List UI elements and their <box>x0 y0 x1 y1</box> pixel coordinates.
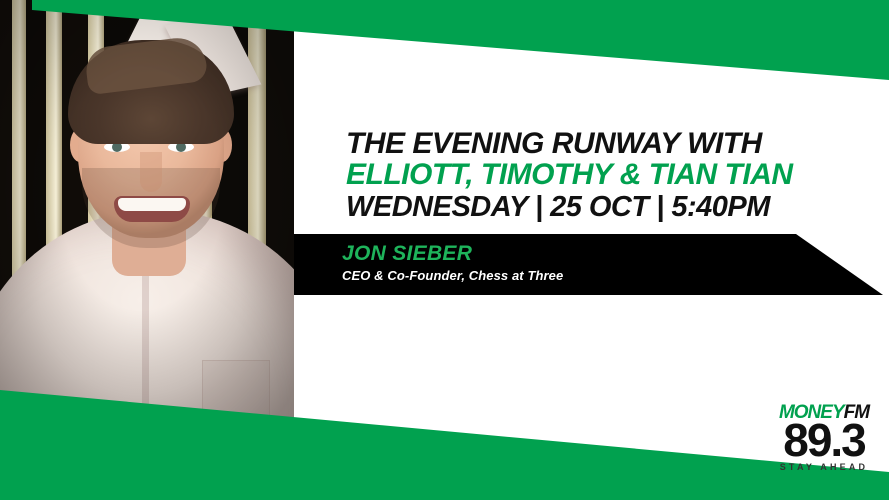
station-tagline: STAY AHEAD <box>769 462 879 472</box>
guest-banner: JON SIEBER CEO & Co-Founder, Chess at Th… <box>294 234 886 295</box>
station-frequency: 89.3 <box>769 421 879 461</box>
show-title-line-2: ELLIOTT, TIMOTHY & TIAN TIAN <box>346 159 876 190</box>
promo-graphic: THE EVENING RUNWAY WITH ELLIOTT, TIMOTHY… <box>0 0 889 500</box>
guest-role: CEO & Co-Founder, Chess at Three <box>342 268 563 283</box>
show-title-line-1: THE EVENING RUNWAY WITH <box>346 128 876 159</box>
green-band-bottom <box>0 390 889 500</box>
station-logo: MONEYFM 89.3 STAY AHEAD <box>769 403 879 472</box>
guest-name: JON SIEBER <box>342 242 472 266</box>
show-schedule-line: WEDNESDAY | 25 OCT | 5:40PM <box>346 192 876 222</box>
show-title-block: THE EVENING RUNWAY WITH ELLIOTT, TIMOTHY… <box>346 128 876 223</box>
